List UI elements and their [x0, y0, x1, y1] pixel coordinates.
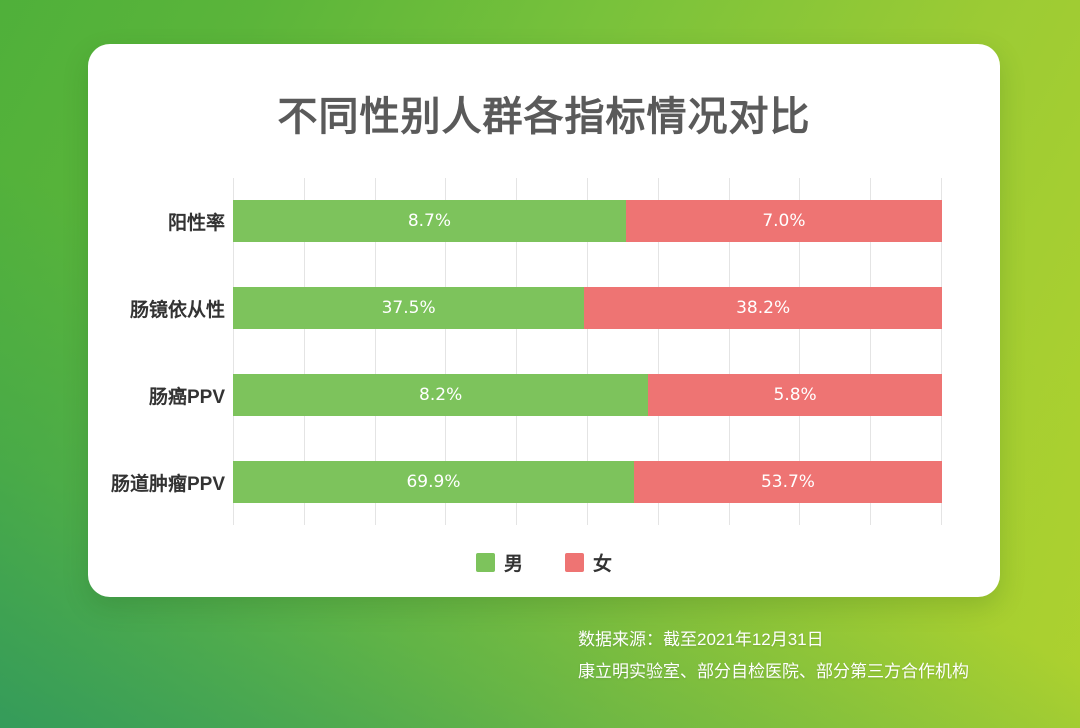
footer-line-2: 康立明实验室、部分自检医院、部分第三方合作机构 — [578, 656, 969, 688]
bar-row: 69.9%53.7% — [233, 461, 942, 503]
bar-segment-male[interactable]: 8.7% — [233, 200, 626, 242]
bar-row: 37.5%38.2% — [233, 287, 942, 329]
legend-item-male[interactable]: 男 — [476, 549, 523, 576]
bar-segment-female[interactable]: 53.7% — [634, 461, 942, 503]
poster-background: 不同性别人群各指标情况对比 阳性率肠镜依从性肠癌PPV肠道肿瘤PPV 8.7%7… — [0, 0, 1080, 728]
legend-swatch-icon — [476, 553, 495, 572]
legend-label: 女 — [593, 549, 612, 576]
chart-card: 不同性别人群各指标情况对比 阳性率肠镜依从性肠癌PPV肠道肿瘤PPV 8.7%7… — [88, 44, 1000, 597]
footer-line-1: 数据来源：截至2021年12月31日 — [578, 624, 969, 656]
legend-label: 男 — [504, 549, 523, 576]
bar-segment-male[interactable]: 37.5% — [233, 287, 584, 329]
chart-legend: 男女 — [88, 549, 1000, 576]
plot-area: 8.7%7.0%37.5%38.2%8.2%5.8%69.9%53.7% — [233, 178, 942, 525]
legend-swatch-icon — [565, 553, 584, 572]
bar-segment-female[interactable]: 7.0% — [626, 200, 942, 242]
footer-note: 数据来源：截至2021年12月31日 康立明实验室、部分自检医院、部分第三方合作… — [578, 624, 969, 688]
y-axis-label-2: 肠癌PPV — [88, 374, 225, 416]
y-axis-category-labels: 阳性率肠镜依从性肠癌PPV肠道肿瘤PPV — [88, 178, 225, 525]
bar-segment-male[interactable]: 8.2% — [233, 374, 648, 416]
bar-row: 8.7%7.0% — [233, 200, 942, 242]
bar-segment-female[interactable]: 38.2% — [584, 287, 942, 329]
page-title: 不同性别人群各指标情况对比 — [88, 84, 1000, 142]
bar-segment-male[interactable]: 69.9% — [233, 461, 634, 503]
y-axis-label-0: 阳性率 — [88, 200, 225, 242]
y-axis-label-3: 肠道肿瘤PPV — [88, 461, 225, 503]
bar-segment-female[interactable]: 5.8% — [648, 374, 942, 416]
y-axis-label-1: 肠镜依从性 — [88, 287, 225, 329]
legend-item-female[interactable]: 女 — [565, 549, 612, 576]
bar-row: 8.2%5.8% — [233, 374, 942, 416]
bar-rows: 8.7%7.0%37.5%38.2%8.2%5.8%69.9%53.7% — [233, 178, 942, 525]
